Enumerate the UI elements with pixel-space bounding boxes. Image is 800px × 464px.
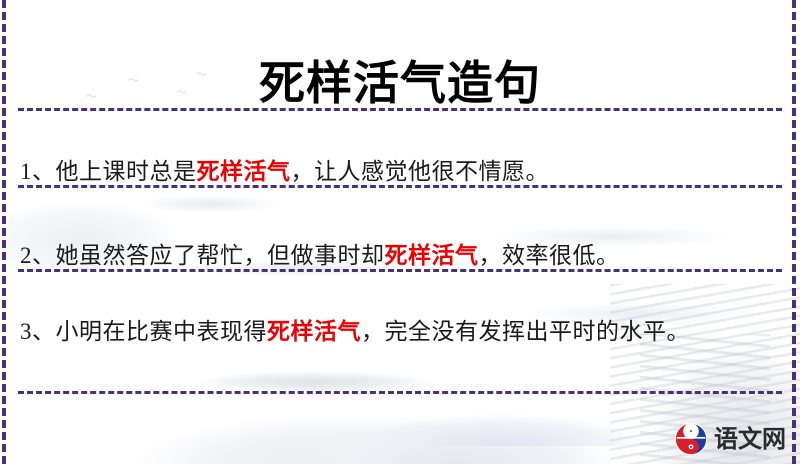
sentence-2-highlight: 死样活气 [385, 243, 479, 268]
site-watermark-text: 语文网 [714, 427, 786, 451]
divider-after-sentence-3 [18, 391, 782, 394]
sentence-3-text-after: ，完全没有发挥出平时的水平。 [361, 319, 690, 344]
frame-border-right [792, 0, 796, 464]
frame-border-left [2, 0, 6, 464]
page-title: 死样活气造句 [0, 55, 800, 111]
poster-page: 〜 〜 〜 〜 死样活气造句 1、他上课时总是死样活气，让人感觉他很不情愿。 2… [0, 0, 800, 464]
sentence-2-text-after: ，效率很低。 [479, 243, 620, 268]
content-area: 死样活气造句 1、他上课时总是死样活气，让人感觉他很不情愿。 2、她虽然答应了帮… [0, 0, 800, 464]
yinyang-fish-logo-icon [674, 422, 708, 456]
sentence-3-text-before: 小明在比赛中表现得 [56, 319, 268, 344]
sentence-3-highlight: 死样活气 [267, 319, 361, 344]
sentence-1-text-before: 他上课时总是 [56, 159, 197, 184]
divider-after-sentence-1 [18, 185, 782, 188]
sentence-2-text-before: 她虽然答应了帮忙，但做事时却 [56, 243, 385, 268]
divider-after-sentence-2 [18, 269, 782, 272]
site-watermark-logo[interactable]: 语文网 [674, 422, 786, 456]
sentence-1-highlight: 死样活气 [197, 159, 291, 184]
example-sentence-3: 3、小明在比赛中表现得死样活气，完全没有发挥出平时的水平。 [20, 313, 774, 351]
divider-below-title [18, 108, 782, 111]
sentence-1-text-after: ，让人感觉他很不情愿。 [291, 159, 550, 184]
sentence-2-index: 2、 [20, 243, 56, 268]
sentence-3-index: 3、 [20, 319, 56, 344]
sentence-1-index: 1、 [20, 159, 56, 184]
